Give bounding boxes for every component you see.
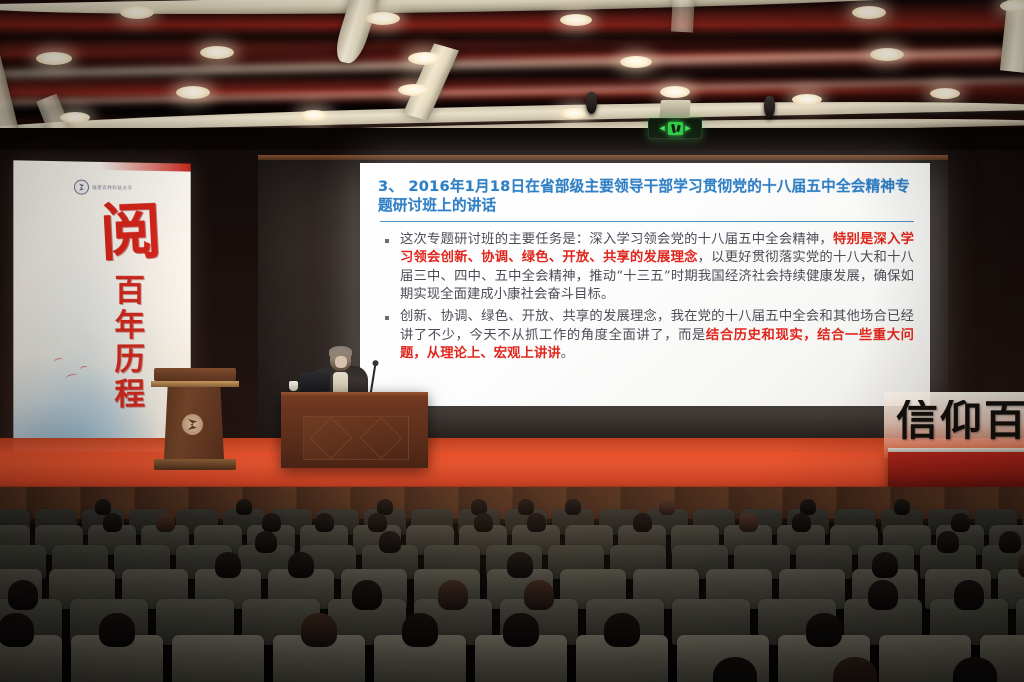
ceiling-downlight-icon: [792, 94, 822, 105]
audience-member-head: [315, 513, 334, 532]
ceiling-downlight-icon: [870, 48, 904, 61]
ceiling-camera-icon: [764, 96, 775, 118]
ceiling-downlight-icon: [660, 86, 690, 98]
university-seal-icon: [74, 180, 89, 195]
slide-title-underline: [380, 221, 914, 223]
ceiling: [0, 0, 1024, 140]
audience-member-head: [518, 499, 534, 515]
audience-member-head: [215, 552, 241, 578]
audience-member-head: [402, 613, 438, 647]
audience-member-head: [894, 499, 910, 515]
audience-member-head: [565, 499, 581, 515]
ceiling-downlight-icon: [398, 84, 430, 96]
speaker-desk: [281, 392, 428, 468]
slide-bullet-list: 这次专题研讨班的主要任务是：深入学习领会党的十八届五中全会精神，特别是深入学习领…: [378, 231, 914, 363]
ceiling-downlight-icon: [930, 88, 960, 99]
running-man-icon: [668, 122, 683, 135]
lectern-top: [154, 368, 236, 381]
audience-member-head: [524, 580, 554, 610]
right-pedestal: [888, 452, 1024, 488]
audience-member-head: [8, 580, 38, 610]
ceiling-downlight-icon: [36, 52, 72, 65]
ceiling-projector: [659, 100, 691, 120]
audience-member-head: [0, 613, 34, 647]
banner-big-character: 阅: [99, 203, 163, 261]
stage-floor: [0, 452, 1024, 492]
ceiling-downlight-icon: [1000, 0, 1024, 12]
ceiling-downlight-icon: [852, 6, 886, 19]
slide-title: 3、 2016年1月18日在省部级主要领导干部学习贯彻党的十八届五中全会精神专题…: [378, 177, 914, 216]
ceiling-camera-icon: [586, 92, 597, 114]
audience-member-head: [503, 613, 539, 647]
audience-member-head: [792, 513, 811, 532]
slide-text: 。: [561, 346, 574, 361]
banner-top-accent: [100, 162, 191, 172]
auditorium-scene: ◄ ► 福建农林科技大学 阅 百年历程 3、 2016年1月18日在省部级主要领…: [0, 0, 1024, 682]
audience-member-head: [633, 513, 652, 532]
lectern-base: [154, 459, 236, 470]
audience-member-head: [255, 531, 277, 553]
audience-member-head: [806, 613, 842, 647]
audience-member-head: [833, 657, 877, 682]
ceiling-rib: [671, 0, 695, 33]
desk-front-panel: [303, 416, 409, 460]
speaker-face: [335, 356, 347, 368]
audience-member-head: [368, 513, 387, 532]
audience-member-head: [379, 531, 401, 553]
audience-member-head: [288, 552, 314, 578]
audience-member-head: [507, 552, 533, 578]
audience-member-head: [103, 513, 122, 532]
ceiling-rib: [0, 40, 19, 136]
audience-member-head: [951, 513, 970, 532]
slide-bullet: 这次专题研讨班的主要任务是：深入学习领会党的十八届五中全会精神，特别是深入学习领…: [378, 231, 914, 304]
lectern-emblem-icon: [182, 414, 203, 435]
exit-right-arrow-icon: ►: [684, 124, 693, 133]
audience-member-head: [868, 580, 898, 610]
ceiling-downlight-icon: [200, 46, 234, 59]
audience-member-head: [236, 499, 252, 515]
ceiling-downlight-icon: [120, 6, 154, 19]
water-cup: [289, 381, 298, 391]
slide-text: 这次专题研讨班的主要任务是：深入学习领会党的十八届五中全会精神，: [400, 232, 833, 247]
ceiling-downlight-icon: [560, 14, 592, 26]
ceiling-downlight-icon: [620, 56, 652, 68]
audience-member-head: [937, 531, 959, 553]
ceiling-downlight-icon: [408, 52, 442, 65]
laptop: [300, 371, 330, 393]
audience-member-head: [156, 513, 175, 532]
audience-member-head: [262, 513, 281, 532]
audience-seat: [172, 635, 264, 682]
audience-member-head: [872, 552, 898, 578]
university-name: 福建农林科技大学: [92, 184, 133, 191]
exit-sign: ◄ ►: [648, 118, 702, 139]
ceiling-downlight-icon: [60, 112, 90, 123]
audience-member-head: [954, 580, 984, 610]
ceiling-downlight-icon: [300, 110, 328, 121]
ceiling-downlight-icon: [176, 86, 210, 99]
audience-member-head: [438, 580, 468, 610]
audience-member-head: [301, 613, 337, 647]
ceiling-downlight-icon: [366, 12, 400, 25]
exit-left-arrow-icon: ◄: [658, 124, 667, 133]
audience-member-head: [527, 513, 546, 532]
audience-member-head: [474, 513, 493, 532]
audience-member-head: [604, 613, 640, 647]
audience-area: [0, 487, 1024, 682]
audience-member-head: [352, 580, 382, 610]
audience-member-head: [739, 513, 758, 532]
ceiling-downlight-icon: [560, 108, 588, 119]
lectern-lip: [151, 381, 239, 387]
slide-bullet: 创新、协调、绿色、开放、共享的发展理念，我在党的十八届五中全会和其他场合已经讲了…: [378, 308, 914, 363]
projection-screen[interactable]: 3、 2016年1月18日在省部级主要领导干部学习贯彻党的十八届五中全会精神专题…: [360, 163, 930, 406]
lectern: [158, 368, 232, 472]
university-logo: 福建农林科技大学: [74, 180, 133, 196]
audience-member-head: [659, 499, 675, 515]
banner-column-text: 百年历程: [110, 274, 150, 413]
audience-member-head: [999, 531, 1021, 553]
audience-member-head: [99, 613, 135, 647]
